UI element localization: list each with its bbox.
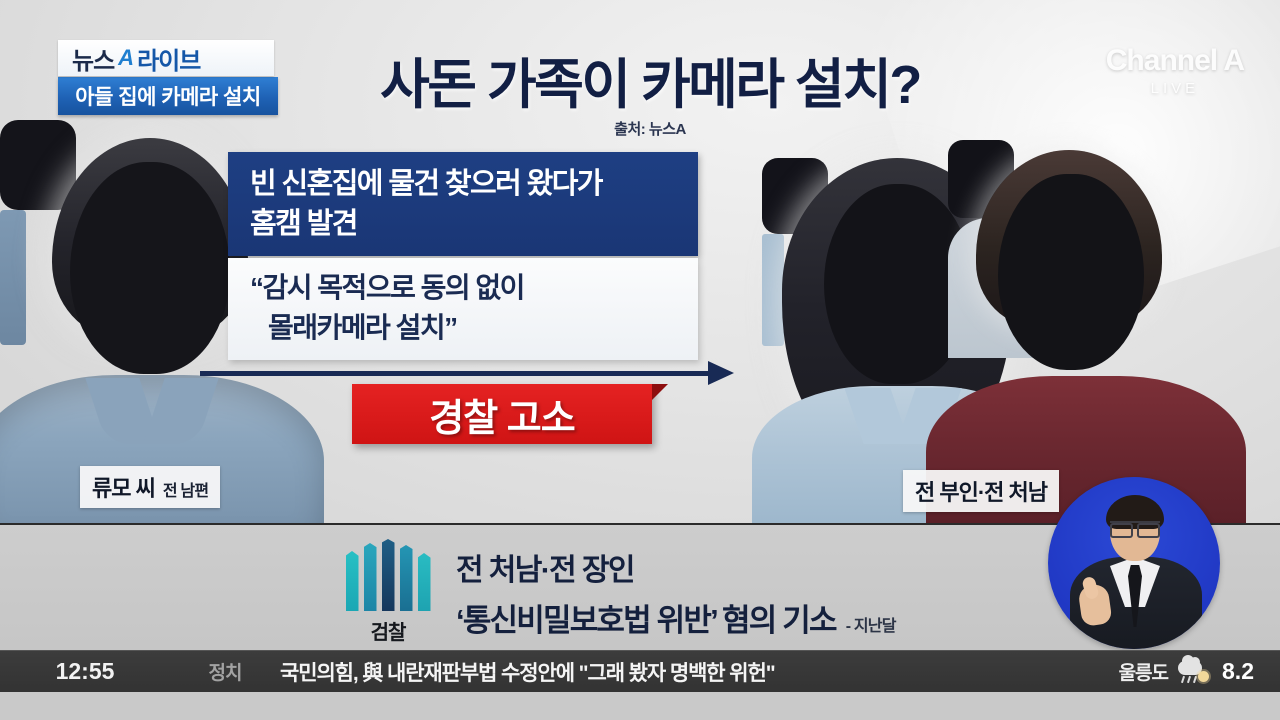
program-subtitle-banner: 아들 집에 카메라 설치 (58, 77, 278, 115)
silhouette-placket (762, 234, 784, 346)
ticker-category: 정치 (170, 658, 280, 685)
main-headline: 사돈 가족이 카메라 설치? (300, 40, 1000, 119)
silhouette-neck (0, 120, 76, 210)
channel-watermark: Channel A LIVE (1106, 44, 1244, 97)
program-logo-news-text: 뉴스 (72, 41, 114, 76)
name-tag-right: 전 부인·전 처남 (903, 470, 1059, 512)
program-logo: 뉴스 A 라이브 아들 집에 카메라 설치 (58, 40, 278, 114)
prosecution-bars-icon (340, 541, 436, 611)
rain-drop (1193, 675, 1197, 682)
ticker-weather: 울릉도 8.2 (1119, 658, 1280, 685)
rain-drop (1187, 675, 1191, 682)
red-banner-label: 경찰 고소 (429, 387, 574, 442)
channel-name: Channel A (1106, 44, 1244, 78)
sun-shape (1198, 671, 1209, 682)
silhouette-head (998, 174, 1144, 370)
program-logo-top: 뉴스 A 라이브 (58, 40, 274, 76)
ticker-clock: 12:55 (0, 658, 170, 685)
video-frame: 뉴스 A 라이브 아들 집에 카메라 설치 사돈 가족이 카메라 설치? 출처:… (0, 0, 1280, 523)
arrow-right-icon (200, 360, 750, 386)
news-ticker: 12:55 정치 국민의힘, 與 내란재판부법 수정안에 "그래 봤자 명백한 … (0, 650, 1280, 692)
cloud-rain-sun-icon (1178, 659, 1212, 685)
info-box-line2: 홈캠 발견 (250, 204, 698, 244)
program-logo-live-text: 라이브 (137, 41, 200, 76)
source-attribution: 출처: 뉴스A (300, 118, 1000, 139)
logo-bar (364, 543, 377, 611)
arrow-shaft (200, 371, 712, 376)
rain-drop (1181, 675, 1185, 682)
logo-bar (418, 553, 431, 611)
logo-bar (382, 539, 395, 611)
weather-region: 울릉도 (1119, 658, 1168, 685)
lower-third-note: - 지난달 (846, 612, 896, 636)
logo-bar (346, 551, 359, 611)
name-tag-right-name: 전 부인·전 처남 (915, 475, 1047, 507)
name-tag-left-relation: 전 남편 (163, 477, 208, 501)
bottom-bar (0, 692, 1280, 720)
arrow-head (708, 361, 734, 385)
silhouette-head (70, 162, 230, 374)
info-box-blue: 빈 신혼집에 물건 찾으러 왔다가 홈캠 발견 (228, 152, 698, 256)
lower-third-text: 전 처남·전 장인 ‘통신비밀보호법 위반’ 혐의 기소 - 지난달 (456, 545, 896, 640)
quote-box: “감시 목적으로 동의 없이 몰래카메라 설치” (228, 258, 698, 360)
broadcast-screen: 뉴스 A 라이브 아들 집에 카메라 설치 사돈 가족이 카메라 설치? 출처:… (0, 0, 1280, 720)
quote-line1: “감시 목적으로 동의 없이 (250, 268, 698, 308)
red-status-banner: 경찰 고소 (352, 384, 652, 444)
silhouette-right-man (948, 140, 1228, 523)
silhouette-placket (0, 210, 26, 345)
live-indicator: LIVE (1106, 80, 1244, 97)
sign-language-interpreter-inset (1048, 477, 1220, 649)
glasses-icon (1110, 521, 1160, 532)
weather-temperature: 8.2 (1222, 658, 1254, 685)
quote-line2: 몰래카메라 설치” (250, 308, 698, 348)
lower-third-line1: 전 처남·전 장인 (456, 545, 896, 589)
channel-a-icon: A (118, 45, 133, 71)
lower-third-line2: ‘통신비밀보호법 위반’ 혐의 기소 (456, 595, 836, 640)
program-logo-news: 뉴스 A 라이브 (72, 41, 200, 76)
name-tag-left: 류모 씨 전 남편 (80, 466, 220, 508)
info-box-line1: 빈 신혼집에 물건 찾으러 왔다가 (250, 164, 698, 204)
banner-fold-corner (652, 384, 668, 400)
ticker-headline: 국민의힘, 與 내란재판부법 수정안에 "그래 봤자 명백한 위헌" (280, 657, 1119, 687)
prosecution-logo: 검찰 (340, 541, 436, 641)
prosecution-label: 검찰 (340, 616, 436, 645)
lower-third-line2-row: ‘통신비밀보호법 위반’ 혐의 기소 - 지난달 (456, 595, 896, 640)
logo-bar (400, 545, 413, 611)
name-tag-left-name: 류모 씨 (92, 471, 155, 503)
